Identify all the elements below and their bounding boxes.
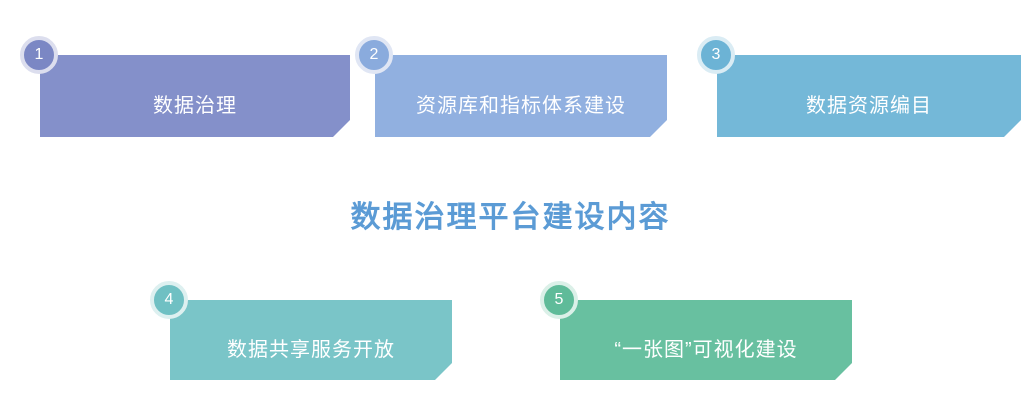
- flowchart-diagram: 数据治理1资源库和指标体系建设2数据资源编目3数据共享服务开放4“一张图”可视化…: [0, 0, 1021, 417]
- step-number-badge: 2: [355, 36, 393, 74]
- step-label: 数据治理: [40, 55, 350, 137]
- step-number: 1: [35, 47, 44, 63]
- step-number: 4: [165, 292, 174, 308]
- step-block-2[interactable]: 资源库和指标体系建设2: [375, 55, 667, 137]
- step-number-badge: 1: [20, 36, 58, 74]
- step-block-4[interactable]: 数据共享服务开放4: [170, 300, 452, 380]
- step-number-badge: 4: [150, 281, 188, 319]
- step-number: 5: [555, 292, 564, 308]
- step-block-5[interactable]: “一张图”可视化建设5: [560, 300, 852, 380]
- step-label: 数据资源编目: [717, 55, 1021, 137]
- step-label: 数据共享服务开放: [170, 300, 452, 380]
- step-block-3[interactable]: 数据资源编目3: [717, 55, 1021, 137]
- step-number-badge: 3: [697, 36, 735, 74]
- step-label: “一张图”可视化建设: [560, 300, 852, 380]
- step-number: 3: [712, 47, 721, 63]
- step-number-badge: 5: [540, 281, 578, 319]
- step-number: 2: [370, 47, 379, 63]
- step-block-1[interactable]: 数据治理1: [40, 55, 350, 137]
- step-label: 资源库和指标体系建设: [375, 55, 667, 137]
- page-title: 数据治理平台建设内容: [0, 192, 1021, 236]
